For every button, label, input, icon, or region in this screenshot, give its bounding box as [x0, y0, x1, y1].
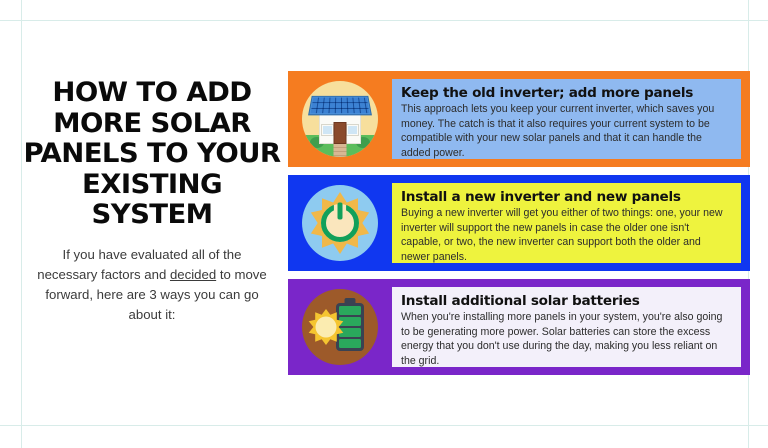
card-body: When you're installing more panels in yo…: [401, 310, 732, 367]
card-title: Keep the old inverter; add more panels: [401, 85, 732, 101]
canvas-guide-left: [21, 0, 22, 448]
card-text-panel: Keep the old inverter; add more panels T…: [392, 79, 741, 159]
card-text-panel: Install a new inverter and new panels Bu…: [392, 183, 741, 263]
icon-container: [288, 175, 392, 271]
solar-house-icon: [302, 81, 378, 157]
tip-card-new-inverter-new-panels: Install a new inverter and new panels Bu…: [288, 175, 750, 271]
solar-battery-icon: [302, 289, 378, 365]
tip-card-additional-solar-batteries: Install additional solar batteries When …: [288, 279, 750, 375]
canvas-guide-top: [0, 20, 768, 21]
card-text-panel: Install additional solar batteries When …: [392, 287, 741, 367]
tip-card-keep-old-inverter: Keep the old inverter; add more panels T…: [288, 71, 750, 167]
intro-paragraph: If you have evaluated all of the necessa…: [34, 245, 270, 325]
card-title: Install additional solar batteries: [401, 293, 732, 309]
canvas-guide-bottom: [0, 425, 768, 426]
sun-power-button-icon: [302, 185, 378, 261]
card-body: This approach lets you keep your current…: [401, 102, 732, 159]
card-title: Install a new inverter and new panels: [401, 189, 732, 205]
card-body: Buying a new inverter will get you eithe…: [401, 206, 732, 263]
icon-container: [288, 279, 392, 375]
page-title: HOW TO ADD MORE SOLAR PANELS TO YOUR EXI…: [23, 78, 280, 231]
icon-container: [288, 71, 392, 167]
intro-column: HOW TO ADD MORE SOLAR PANELS TO YOUR EXI…: [26, 78, 278, 325]
decided-link[interactable]: decided: [170, 267, 216, 282]
